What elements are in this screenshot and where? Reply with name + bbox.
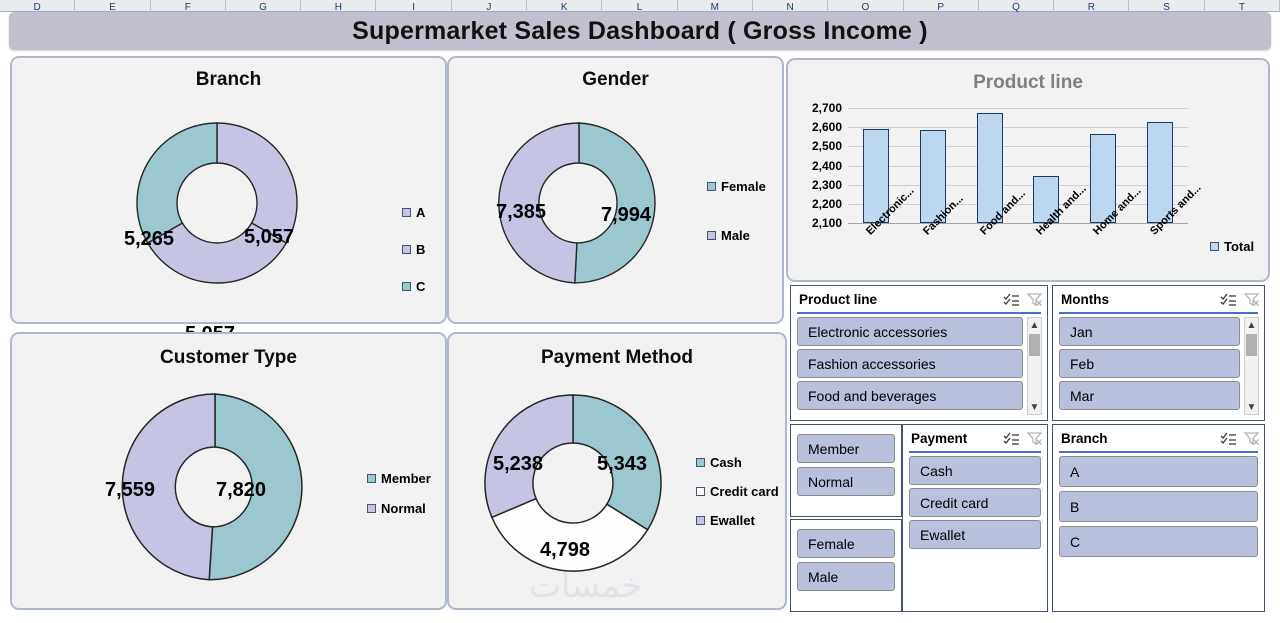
- spreadsheet-column-headers: DEFGHIJKLMNOPQRST: [0, 0, 1280, 12]
- legend-label: Ewallet: [710, 513, 755, 528]
- slicer-item[interactable]: Normal: [797, 467, 895, 496]
- legend-label: B: [416, 242, 425, 257]
- scrollbar-thumb[interactable]: [1246, 334, 1257, 356]
- scrollbar-thumb[interactable]: [1029, 334, 1040, 356]
- column-header-r[interactable]: R: [1054, 0, 1129, 12]
- legend-swatch-icon: [402, 208, 411, 217]
- slicer-customer-type[interactable]: Member Normal: [790, 424, 902, 517]
- column-header-k[interactable]: K: [527, 0, 602, 12]
- slicer-header: Months: [1053, 286, 1264, 312]
- donut-value-customer-normal: 7,559: [105, 479, 155, 502]
- y-axis-tick-label: 2,300: [790, 179, 842, 191]
- legend-item: Member: [367, 471, 431, 486]
- x-axis-line: [848, 223, 1188, 224]
- legend-customer-type: Member Normal: [367, 471, 431, 526]
- legend-swatch-icon: [707, 231, 716, 240]
- slicer-gender[interactable]: Female Male: [790, 519, 902, 612]
- legend-item: Female: [707, 179, 766, 194]
- legend-item: Normal: [367, 501, 431, 516]
- slicer-item[interactable]: Food and beverages: [797, 381, 1023, 410]
- y-axis-tick-label: 2,700: [790, 102, 842, 114]
- chart-title-gender: Gender: [449, 69, 782, 91]
- legend-gender: Female Male: [707, 179, 766, 253]
- slicer-scrollbar[interactable]: ▲ ▼: [1244, 317, 1259, 415]
- slicer-item-list: Cash Credit card Ewallet: [909, 456, 1041, 552]
- gridline: [848, 108, 1188, 109]
- column-header-t[interactable]: T: [1205, 0, 1280, 12]
- column-header-q[interactable]: Q: [979, 0, 1054, 12]
- legend-swatch-icon: [367, 474, 376, 483]
- chart-card-payment-method: Payment Method خمسات 5,343 4,798 5,238 C…: [447, 332, 787, 610]
- multi-select-icon[interactable]: [1218, 290, 1238, 308]
- multi-select-icon[interactable]: [1218, 429, 1238, 447]
- slicer-item[interactable]: Credit card: [909, 488, 1041, 517]
- legend-label: Cash: [710, 455, 742, 470]
- legend-label: C: [416, 279, 425, 294]
- clear-filter-icon[interactable]: [1241, 429, 1261, 447]
- scroll-up-icon[interactable]: ▲: [1028, 318, 1041, 332]
- column-header-j[interactable]: J: [452, 0, 527, 12]
- column-header-h[interactable]: H: [301, 0, 376, 12]
- legend-label: Male: [721, 228, 750, 243]
- gridline: [848, 166, 1188, 167]
- donut-value-gender-female: 7,994: [601, 204, 651, 227]
- slicer-header-rule: [1059, 451, 1258, 453]
- chart-title-customer-type: Customer Type: [12, 347, 445, 369]
- legend-item: Total: [1210, 239, 1254, 254]
- chart-card-product-line: Product line 2,7002,6002,5002,4002,3002,…: [786, 58, 1270, 282]
- slicer-item-list: A B C: [1059, 456, 1258, 560]
- legend-item: Cash: [696, 455, 779, 470]
- y-axis-tick-label: 2,200: [790, 198, 842, 210]
- donut-value-payment-credit: 4,798: [540, 539, 590, 562]
- chart-title-branch: Branch: [12, 69, 445, 91]
- legend-swatch-icon: [696, 458, 705, 467]
- slicer-item[interactable]: Ewallet: [909, 520, 1041, 549]
- watermark-text: خمسات: [529, 566, 642, 606]
- slicer-item[interactable]: Electronic accessories: [797, 317, 1023, 346]
- slicer-header: Product line: [791, 286, 1047, 312]
- slicer-title: Product line: [799, 292, 1001, 307]
- y-axis-tick-label: 2,100: [790, 217, 842, 229]
- donut-value-payment-ewallet: 5,238: [493, 453, 543, 476]
- legend-label: Female: [721, 179, 766, 194]
- donut-value-branch-a: 5,057: [244, 226, 294, 249]
- column-header-m[interactable]: M: [678, 0, 753, 12]
- column-header-e[interactable]: E: [75, 0, 150, 12]
- slicer-item[interactable]: Female: [797, 529, 895, 558]
- legend-swatch-icon: [402, 282, 411, 291]
- column-header-s[interactable]: S: [1129, 0, 1204, 12]
- donut-chart-branch: [117, 113, 317, 293]
- legend-item: A: [402, 205, 425, 220]
- column-header-o[interactable]: O: [828, 0, 903, 12]
- slicer-months[interactable]: Months Jan Feb Mar ▲ ▼: [1052, 285, 1265, 421]
- legend-item: B: [402, 242, 425, 257]
- scroll-up-icon[interactable]: ▲: [1245, 318, 1258, 332]
- dashboard-title-bar: Supermarket Sales Dashboard ( Gross Inco…: [9, 12, 1271, 50]
- slicer-item[interactable]: Jan: [1059, 317, 1240, 346]
- multi-select-icon[interactable]: [1001, 290, 1021, 308]
- y-axis-tick-label: 2,500: [790, 140, 842, 152]
- donut-value-gender-male: 7,385: [496, 201, 546, 224]
- legend-label: Total: [1224, 239, 1254, 254]
- donut-value-payment-cash: 5,343: [597, 453, 647, 476]
- legend-label: Normal: [381, 501, 426, 516]
- slicer-item[interactable]: Male: [797, 562, 895, 591]
- slicer-product-line[interactable]: Product line Electronic accessories Fash…: [790, 285, 1048, 421]
- clear-filter-icon[interactable]: [1024, 429, 1044, 447]
- donut-value-branch-c: 5,265: [124, 228, 174, 251]
- bar-plot-area: 2,7002,6002,5002,4002,3002,2002,100Elect…: [788, 60, 1272, 284]
- slicer-header: Payment: [903, 425, 1047, 451]
- legend-label: Credit card: [710, 484, 779, 499]
- slicer-item[interactable]: Member: [797, 434, 895, 463]
- column-header-n[interactable]: N: [753, 0, 828, 12]
- clear-filter-icon[interactable]: [1241, 290, 1261, 308]
- chart-card-gender: Gender 7,994 7,385 Female Male: [447, 56, 784, 324]
- legend-item: C: [402, 279, 425, 294]
- slicer-item[interactable]: Feb: [1059, 349, 1240, 378]
- scroll-down-icon[interactable]: ▼: [1028, 400, 1041, 414]
- slicer-item[interactable]: Mar: [1059, 381, 1240, 410]
- slicer-header-rule: [909, 451, 1041, 453]
- legend-branch: A B C: [402, 205, 425, 304]
- slicer-item-list: Member Normal: [797, 434, 895, 499]
- legend-swatch-icon: [707, 182, 716, 191]
- slicer-header: Branch: [1053, 425, 1264, 451]
- y-axis-tick-label: 2,600: [790, 121, 842, 133]
- chart-card-customer-type: Customer Type 7,820 7,559 Member Normal: [10, 332, 447, 610]
- slicer-header-rule: [797, 312, 1041, 314]
- clear-filter-icon[interactable]: [1024, 290, 1044, 308]
- legend-swatch-icon: [367, 504, 376, 513]
- column-header-p[interactable]: P: [904, 0, 979, 12]
- slicer-item[interactable]: Fashion accessories: [797, 349, 1023, 378]
- slicer-title: Payment: [911, 431, 1001, 446]
- slicer-item[interactable]: B: [1059, 491, 1258, 522]
- legend-product-line: Total: [1210, 239, 1254, 254]
- gridline: [848, 146, 1188, 147]
- slicer-item-list: Jan Feb Mar: [1059, 317, 1240, 413]
- legend-swatch-icon: [1210, 242, 1219, 251]
- legend-item: Ewallet: [696, 513, 779, 528]
- scroll-down-icon[interactable]: ▼: [1245, 400, 1258, 414]
- legend-payment-method: Cash Credit card Ewallet: [696, 455, 779, 538]
- slicer-item[interactable]: Cash: [909, 456, 1041, 485]
- slicer-title: Months: [1061, 292, 1218, 307]
- slicer-header-rule: [1059, 312, 1258, 314]
- slicer-scrollbar[interactable]: ▲ ▼: [1027, 317, 1042, 415]
- slicer-item-list: Female Male: [797, 529, 895, 594]
- gridline: [848, 127, 1188, 128]
- legend-label: A: [416, 205, 425, 220]
- donut-value-customer-member: 7,820: [216, 479, 266, 502]
- legend-swatch-icon: [696, 516, 705, 525]
- slicer-item[interactable]: C: [1059, 526, 1258, 557]
- legend-swatch-icon: [696, 487, 705, 496]
- chart-title-payment-method: Payment Method: [449, 347, 785, 369]
- chart-card-branch: Branch 5,057 5,057 5,265 A B C: [10, 56, 447, 324]
- dashboard-root: DEFGHIJKLMNOPQRST Supermarket Sales Dash…: [0, 0, 1280, 623]
- column-header-l[interactable]: L: [602, 0, 677, 12]
- y-axis-tick-label: 2,400: [790, 160, 842, 172]
- page-title: Supermarket Sales Dashboard ( Gross Inco…: [352, 17, 928, 46]
- column-header-f[interactable]: F: [151, 0, 226, 12]
- slicer-item[interactable]: A: [1059, 456, 1258, 487]
- legend-label: Member: [381, 471, 431, 486]
- slicer-item-list: Electronic accessories Fashion accessori…: [797, 317, 1023, 413]
- slicer-title: Branch: [1061, 431, 1218, 446]
- column-header-g[interactable]: G: [226, 0, 301, 12]
- multi-select-icon[interactable]: [1001, 429, 1021, 447]
- slicer-branch[interactable]: Branch A B C: [1052, 424, 1265, 612]
- legend-item: Credit card: [696, 484, 779, 499]
- slicer-payment[interactable]: Payment Cash Credit card Ewallet: [902, 424, 1048, 612]
- legend-swatch-icon: [402, 245, 411, 254]
- legend-item: Male: [707, 228, 766, 243]
- column-header-d[interactable]: D: [0, 0, 75, 12]
- column-header-i[interactable]: I: [376, 0, 451, 12]
